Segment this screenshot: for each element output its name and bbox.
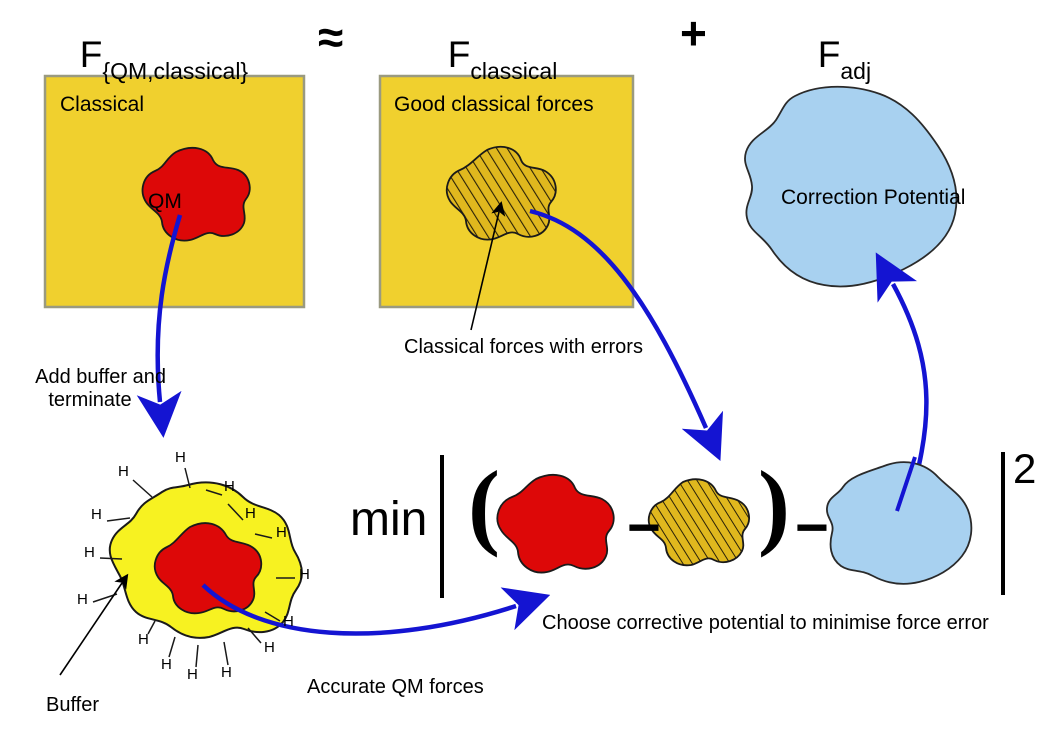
hydrogen-atom-6: H [84,544,95,562]
hydrogen-atom-14: H [221,664,232,682]
add-buffer-annotation: Add buffer and terminate [10,342,170,436]
hydrogen-atom-13: H [187,666,198,684]
equation-hatched-blob [649,479,749,565]
term-fclassical-base: F [448,34,471,75]
term-fadj-base: F [818,34,841,75]
good-classical-box-label: Good classical forces [394,93,594,118]
term-fqm-classical: F{QM,classical} [62,14,248,95]
hydrogen-atom-12: H [161,656,172,674]
close-paren: ) [758,448,790,561]
open-paren: ( [468,448,500,561]
buffer-pointer [60,583,122,675]
hydrogen-atom-8: H [77,591,88,609]
classical-errors-annotation: Classical forces with errors [404,336,643,360]
equation-red-blob [497,475,613,573]
approx-symbol: ≈ [318,10,343,64]
buffer-annotation: Buffer [46,694,99,718]
term-fadj-sub: adj [840,58,871,84]
hydrogen-atom-1: H [118,463,129,481]
term-fqm-base: F [80,34,103,75]
hydrogen-atom-7: H [299,566,310,584]
hydrogen-atom-5: H [276,524,287,542]
plus-symbol: + [680,6,707,60]
hydrogen-atom-0: H [175,449,186,467]
classical-box-label: Classical [60,93,144,118]
inner-minus: − [627,494,661,562]
term-fqm-sub: {QM,classical} [102,58,248,84]
hydrogen-atom-3: H [245,505,256,523]
min-operator: min [350,492,427,549]
hydrogen-atom-2: H [224,478,235,496]
hydrogen-atom-10: H [138,631,149,649]
hydrogen-atom-9: H [283,613,294,631]
accurate-qm-annotation: Accurate QM forces [307,676,484,700]
exponent-two: 2 [1013,444,1036,494]
outer-minus: − [795,494,829,562]
hydrogen-atom-4: H [91,506,102,524]
correction-potential-label: Correction Potential [781,186,965,211]
choose-corrective-annotation: Choose corrective potential to minimise … [542,612,989,636]
term-fclassical: Fclassical [430,14,557,95]
hydrogen-atom-11: H [264,639,275,657]
diagram-canvas: F{QM,classical} ≈ Fclassical + Fadj Clas… [0,0,1060,746]
add-buffer-text: Add buffer and terminate [35,366,166,412]
term-fclassical-sub: classical [470,58,557,84]
qm-blob-label: QM [148,190,182,215]
equation-blue-blob [827,462,971,584]
term-fadj: Fadj [800,14,871,95]
